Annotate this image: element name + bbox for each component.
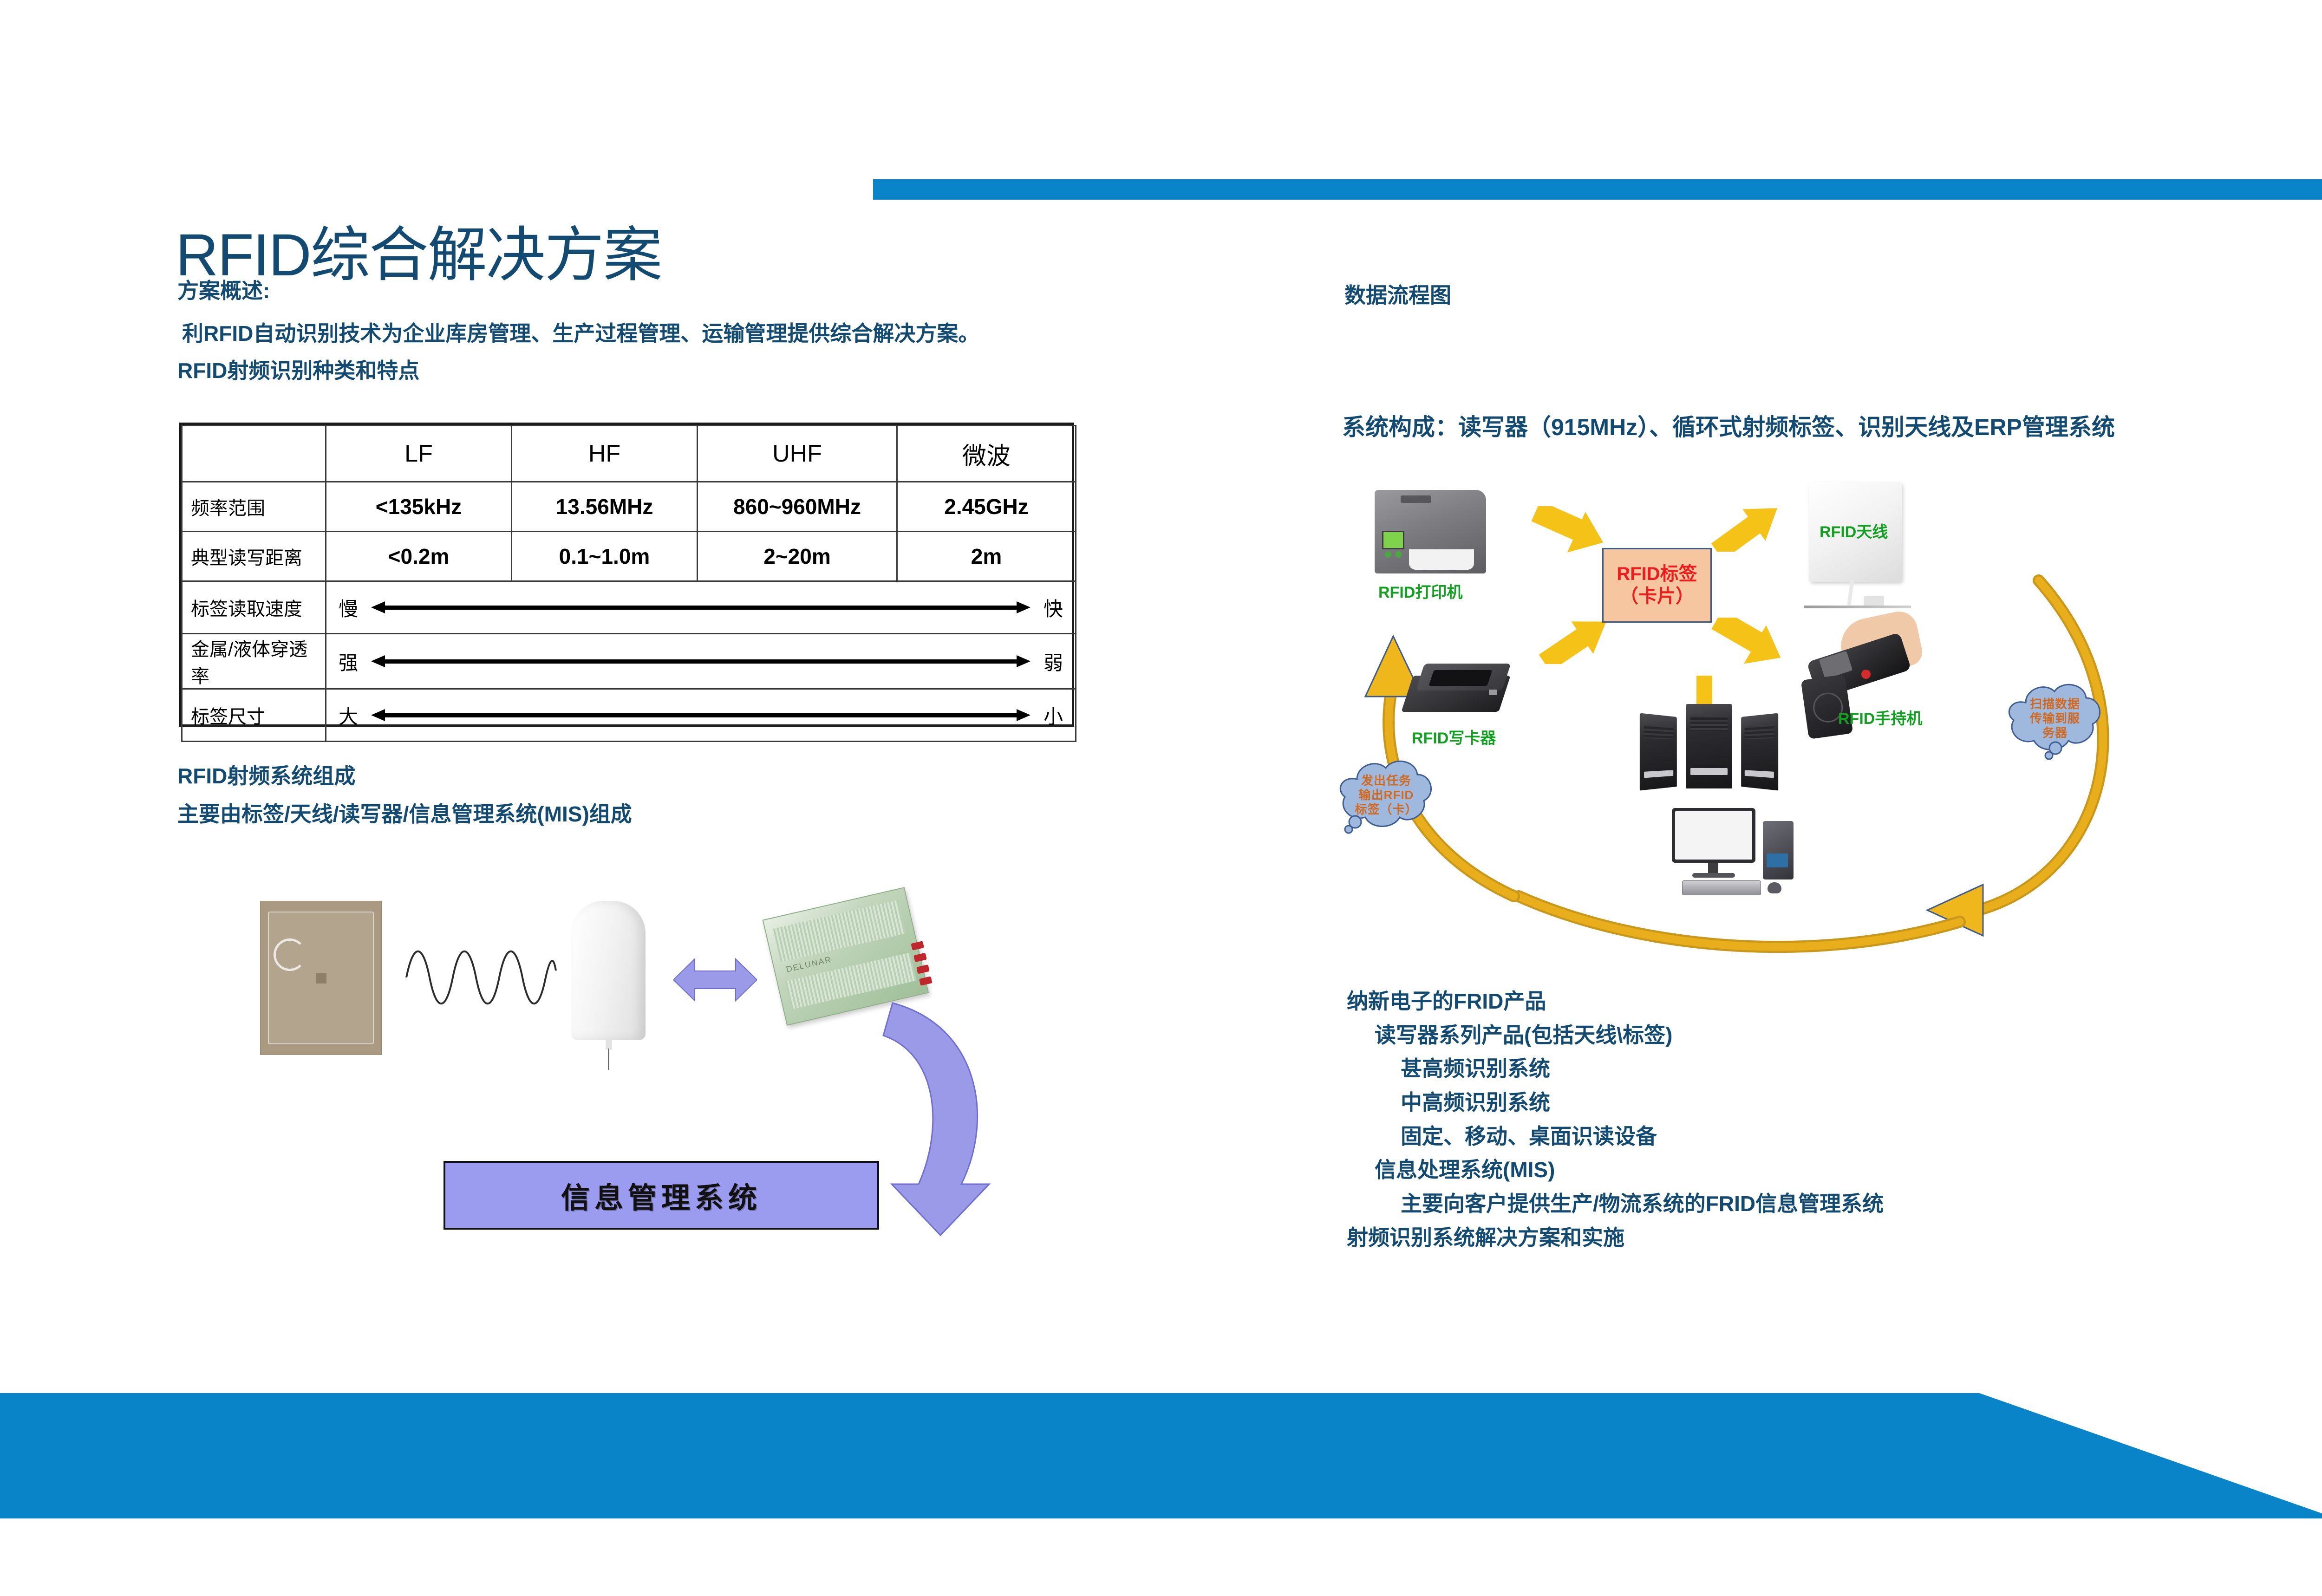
system-structure-label: 系统构成：读写器（915MHz）、循环式射频标签、识别天线及ERP管理系统: [1342, 409, 2115, 442]
row-label: 标签尺寸: [182, 689, 326, 742]
arrow-left-label: 大: [339, 701, 358, 730]
table-row: 标签尺寸 大 小: [182, 689, 1076, 742]
table-header-corner: [182, 426, 326, 482]
product-list: 纳新电子的FRID产品 读写器系列产品(包括天线\标签) 甚高频识别系统 中高频…: [1347, 984, 1884, 1254]
rfid-data-flow-diagram: RFID打印机 RFID写卡器 RFID标签 （卡片） RFID天线 RFID手…: [1319, 464, 2169, 975]
device-label-printer: RFID打印机: [1378, 580, 1462, 602]
cell-value: 2m: [897, 532, 1076, 581]
list-item: 信息处理系统(MIS): [1347, 1153, 1884, 1187]
tag-box-line2: （卡片）: [1620, 586, 1694, 607]
table-row: 标签读取速度 慢 快: [182, 581, 1076, 634]
arrow-printer-to-tag-icon: [1530, 506, 1605, 557]
rfid-printer-photo: [1375, 490, 1486, 573]
cell-value: <135kHz: [326, 482, 512, 532]
table-header-microwave: 微波: [897, 426, 1076, 482]
device-label-card-writer: RFID写卡器: [1412, 725, 1496, 748]
cell-value: 13.56MHz: [512, 482, 698, 532]
table-header-lf: LF: [326, 426, 512, 482]
list-item: 射频识别系统解决方案和实施: [1347, 1221, 1884, 1255]
cloud-left-line2: 输出RFID: [1359, 788, 1414, 802]
row-label: 金属/液体穿透率: [182, 634, 326, 689]
desktop-computer-photo: [1672, 808, 1802, 896]
row-label: 典型读写距离: [182, 532, 326, 581]
arrow-writer-to-tag-icon: [1537, 613, 1611, 664]
list-item: 纳新电子的FRID产品: [1347, 984, 1884, 1018]
table-row: 典型读写距离 <0.2m 0.1~1.0m 2~20m 2m: [182, 532, 1076, 581]
mis-box: 信息管理系统: [444, 1161, 879, 1230]
table-header-uhf: UHF: [698, 426, 897, 482]
server-rack-photo: [1639, 700, 1779, 788]
radio-wave-icon: [404, 943, 557, 1012]
table-header-row: LF HF UHF 微波: [182, 426, 1076, 482]
cloud-right-line3: 务器: [2042, 726, 2068, 740]
cloud-left-line1: 发出任务: [1361, 774, 1411, 788]
arrow-left-label: 强: [339, 647, 358, 676]
row-label: 标签读取速度: [182, 581, 326, 634]
list-item: 甚高频识别系统: [1347, 1052, 1884, 1086]
double-arrow-icon: [371, 655, 1031, 667]
list-item: 主要向客户提供生产/物流系统的FRID信息管理系统: [1347, 1187, 1884, 1221]
cloud-right-line1: 扫描数据: [2030, 697, 2080, 711]
cell-value: 860~960MHz: [698, 482, 897, 532]
list-item: 中高频识别系统: [1347, 1086, 1884, 1120]
tag-box-line1: RFID标签: [1617, 563, 1697, 585]
cloud-left-line3: 标签（卡）: [1355, 802, 1417, 817]
rfid-tag-box: RFID标签 （卡片）: [1602, 548, 1712, 623]
gradient-arrow-cell: 慢 快: [326, 581, 1076, 634]
bidirectional-arrow-icon: [673, 954, 757, 1005]
system-composition-label: RFID射频系统组成: [177, 763, 355, 790]
table-row: 频率范围 <135kHz 13.56MHz 860~960MHz 2.45GHz: [182, 482, 1076, 532]
cell-value: 2~20m: [698, 532, 897, 581]
table-header-hf: HF: [512, 426, 698, 482]
list-item: 读写器系列产品(包括天线\标签): [1347, 1018, 1884, 1052]
rfid-card-writer-photo: [1407, 662, 1514, 722]
cell-value: <0.2m: [326, 532, 512, 581]
list-item: 固定、移动、桌面识读设备: [1347, 1120, 1884, 1153]
double-arrow-icon: [371, 601, 1031, 613]
device-label-antenna: RFID天线: [1820, 519, 1888, 542]
arrow-right-label: 弱: [1044, 647, 1063, 676]
cloud-callout-right: 扫描数据 传输到服 务器: [1997, 676, 2113, 762]
arrow-right-label: 小: [1044, 701, 1063, 730]
data-flow-label: 数据流程图: [1344, 279, 1451, 309]
rfid-spec-table: LF HF UHF 微波 频率范围 <135kHz 13.56MHz 860~9…: [179, 423, 1074, 727]
arrow-left-label: 慢: [339, 593, 358, 622]
cell-value: 0.1~1.0m: [512, 532, 698, 581]
slide-canvas: RFID综合解决方案 方案概述: 利RFID自动识别技术为企业库房管理、生产过程…: [0, 0, 2322, 1596]
arrow-tag-to-handheld-icon: [1709, 618, 1783, 669]
top-decorative-banner: [873, 179, 2322, 200]
row-label: 频率范围: [182, 482, 326, 532]
table-row: 金属/液体穿透率 强 弱: [182, 634, 1076, 689]
rfid-antenna-photo: [571, 901, 646, 1054]
rfid-tag-photo: [260, 901, 382, 1055]
overview-body: 利RFID自动识别技术为企业库房管理、生产过程管理、运输管理提供综合解决方案。: [182, 320, 979, 347]
cloud-callout-left: 发出任务 输出RFID 标签（卡）: [1328, 752, 1444, 838]
overview-label: 方案概述:: [177, 278, 270, 305]
cell-value: 2.45GHz: [897, 482, 1076, 532]
bottom-decorative-banner: [0, 1393, 2322, 1518]
arrow-tag-to-antenna-icon: [1709, 501, 1783, 552]
rfid-handheld-photo: [1802, 612, 1927, 751]
system-composition-body: 主要由标签/天线/读写器/信息管理系统(MIS)组成: [177, 801, 632, 828]
device-label-handheld: RFID手持机: [1838, 706, 1922, 729]
rfid-kinds-label: RFID射频识别种类和特点: [177, 358, 419, 384]
double-arrow-icon: [371, 709, 1031, 721]
page-title: RFID综合解决方案: [176, 226, 662, 285]
cloud-right-line2: 传输到服: [2030, 711, 2080, 726]
gradient-arrow-cell: 大 小: [326, 689, 1076, 742]
arrow-right-label: 快: [1044, 593, 1063, 622]
gradient-arrow-cell: 强 弱: [326, 634, 1076, 689]
